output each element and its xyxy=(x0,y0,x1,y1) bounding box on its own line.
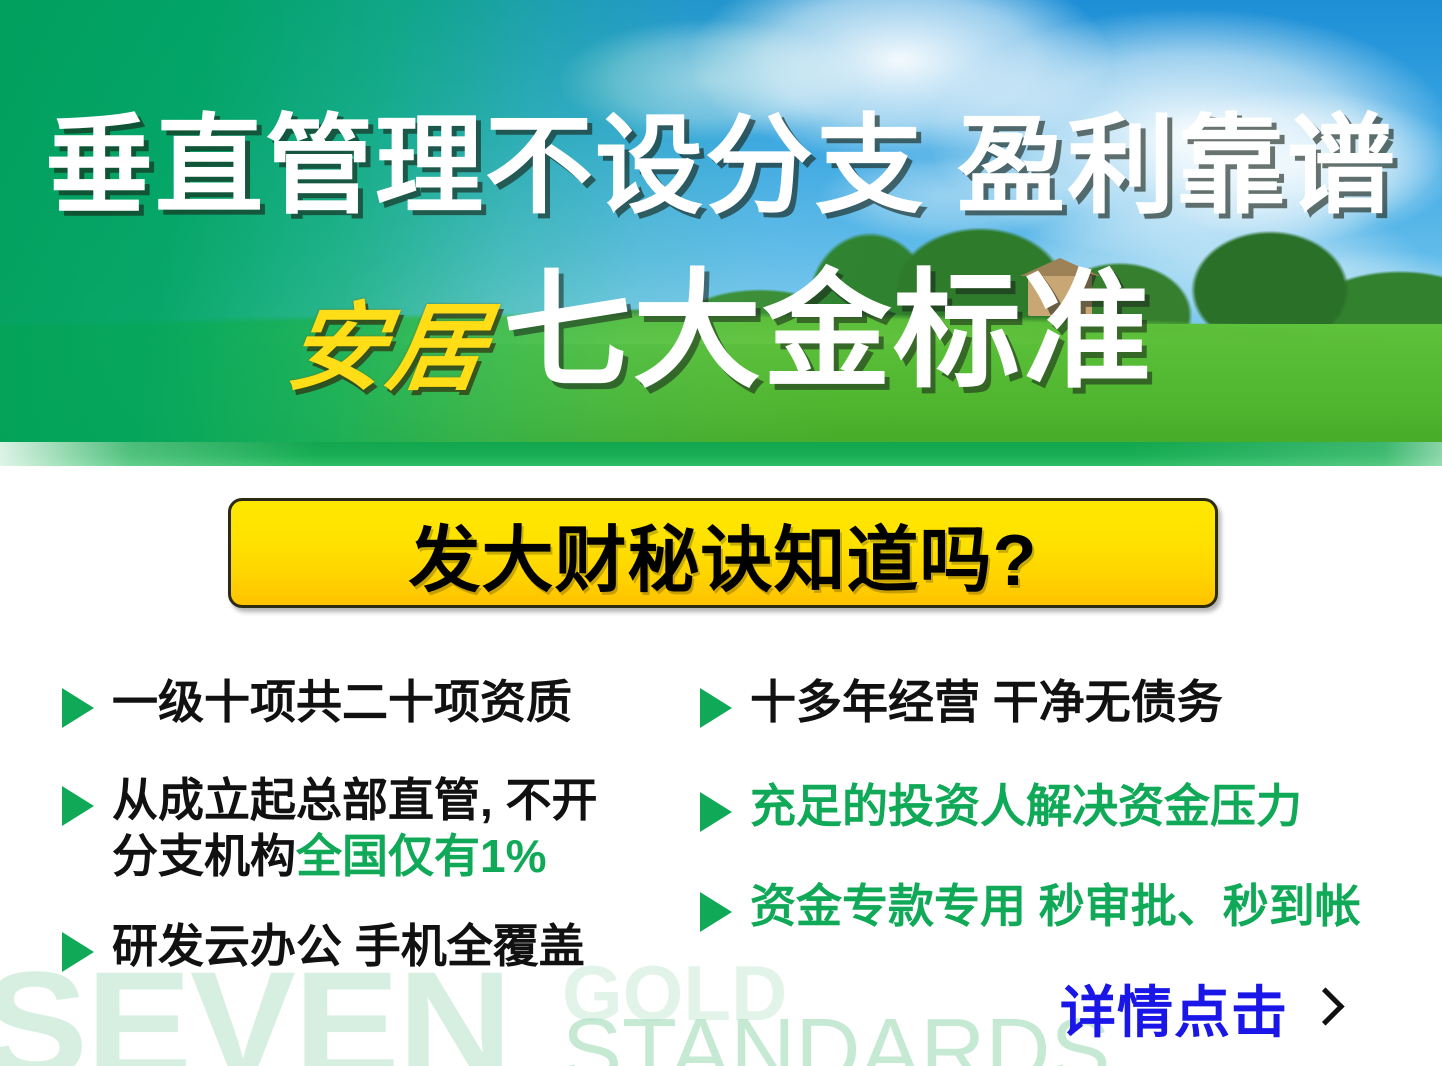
feature-item: 从成立起总部直管, 不开分支机构全国仅有1% xyxy=(62,772,598,884)
feature-text: 研发云办公 手机全覆盖 xyxy=(112,918,585,974)
feature-item: 一级十项共二十项资质 xyxy=(62,674,572,730)
triangle-bullet-icon xyxy=(62,786,94,826)
banner-root: 垂直管理不设分支 盈利靠谱 安居七大金标准 SEVEN GOLD STANDAR… xyxy=(0,0,1442,1066)
feature-text-highlight: 全国仅有1% xyxy=(296,830,546,882)
feature-text-line2-plain: 分支机构 xyxy=(112,830,296,882)
bottom-band-fade xyxy=(0,442,1442,466)
highlight-banner-text: 发大财秘诀知道吗? xyxy=(409,501,1038,606)
feature-text: 一级十项共二十项资质 xyxy=(112,674,572,730)
feature-text: 资金专款专用 秒审批、秒到帐 xyxy=(750,878,1361,934)
feature-text: 从成立起总部直管, 不开分支机构全国仅有1% xyxy=(112,772,598,884)
cta-link[interactable]: 详情点击 xyxy=(1060,968,1332,1049)
hero-section: 垂直管理不设分支 盈利靠谱 安居七大金标准 xyxy=(0,0,1442,466)
chevron-right-icon xyxy=(1310,989,1332,1029)
cta-label: 详情点击 xyxy=(1060,968,1288,1049)
triangle-bullet-icon xyxy=(62,932,94,972)
feature-text-line1: 从成立起总部直管, 不开 xyxy=(112,774,598,826)
triangle-bullet-icon xyxy=(700,792,732,832)
triangle-bullet-icon xyxy=(62,688,94,728)
feature-item: 十多年经营 干净无债务 xyxy=(700,674,1223,730)
triangle-bullet-icon xyxy=(700,688,732,728)
brand-word: 安居 xyxy=(282,301,495,397)
feature-item: 资金专款专用 秒审批、秒到帐 xyxy=(700,878,1361,934)
feature-text: 十多年经营 干净无债务 xyxy=(750,674,1223,730)
hero-subtitle-row: 安居七大金标准 xyxy=(0,268,1442,397)
highlight-banner[interactable]: 发大财秘诀知道吗? xyxy=(228,498,1218,608)
watermark-standards: STANDARDS xyxy=(562,1000,1110,1066)
feature-text: 充足的投资人解决资金压力 xyxy=(750,778,1302,834)
hero-subtitle: 七大金标准 xyxy=(503,268,1153,396)
feature-item: 充足的投资人解决资金压力 xyxy=(700,778,1302,834)
feature-item: 研发云办公 手机全覆盖 xyxy=(62,918,585,974)
hero-headline: 垂直管理不设分支 盈利靠谱 xyxy=(0,112,1442,220)
triangle-bullet-icon xyxy=(700,892,732,932)
features-section: 一级十项共二十项资质 从成立起总部直管, 不开分支机构全国仅有1% 研发云办公 … xyxy=(0,660,1442,990)
